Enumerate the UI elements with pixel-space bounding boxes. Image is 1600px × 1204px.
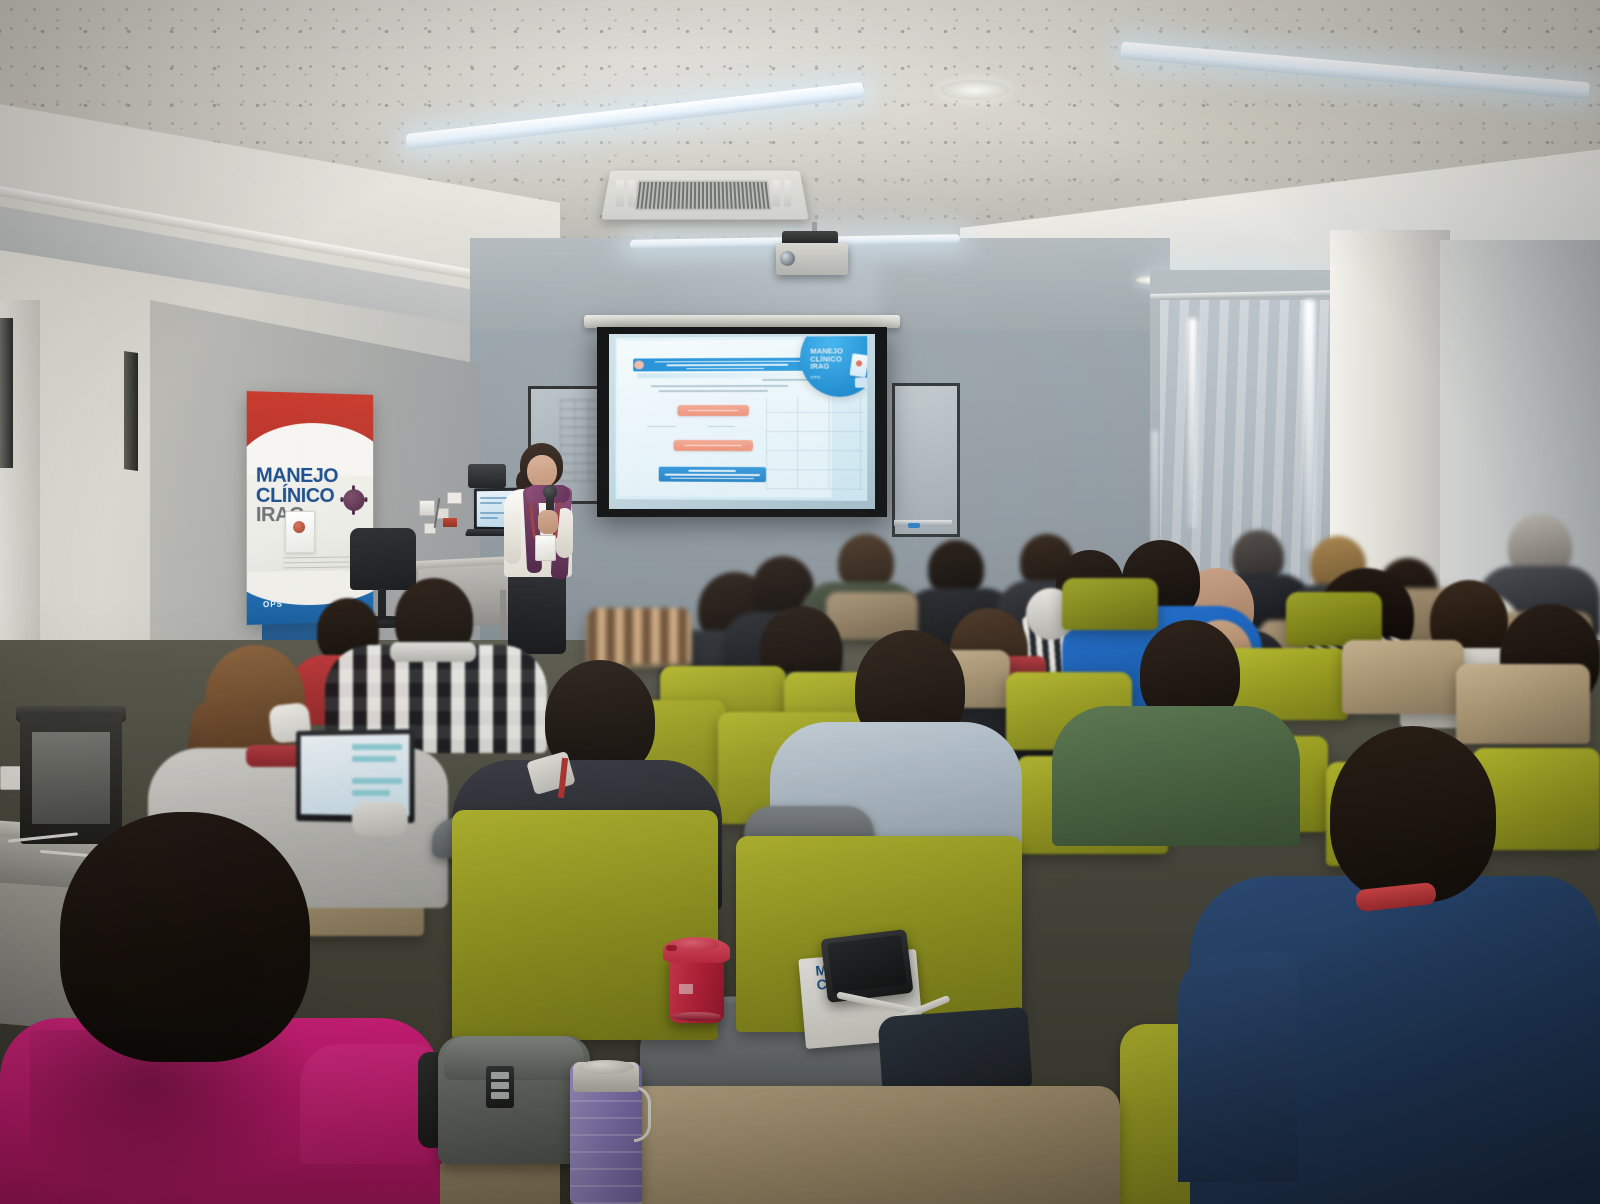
presenter-hand	[538, 510, 558, 534]
trash-bin-panel	[32, 732, 110, 824]
chair-green[interactable]	[1062, 578, 1158, 630]
slide-decision-box-label	[688, 410, 738, 412]
laptop-screen-content	[352, 744, 402, 750]
curtain-light-leak	[1188, 318, 1197, 528]
presenter-trousers	[508, 572, 566, 654]
emergency-button[interactable]	[443, 518, 457, 527]
water-bottle-collapsible-rings	[570, 1090, 642, 1204]
av-equipment	[468, 464, 506, 488]
slide-title-icon	[634, 360, 644, 369]
laptop-screen-content	[480, 502, 502, 504]
slide-reference-table	[766, 397, 863, 490]
whiteboard-marker-tray	[894, 520, 952, 526]
laptop-screen-content	[352, 756, 396, 762]
air-conditioner-grille	[634, 180, 772, 210]
audience-green-shirt	[1052, 706, 1300, 846]
laptop-screen-content	[352, 790, 390, 796]
chair-tan[interactable]	[1456, 664, 1590, 744]
coffee-cup-base	[672, 1012, 721, 1021]
water-bottle-strap	[634, 1086, 651, 1142]
presenter-desk-leg	[500, 590, 506, 638]
projector-lens-icon	[780, 251, 795, 266]
audience-hand	[352, 802, 408, 836]
slide-body-text-line	[659, 390, 768, 392]
whiteboard-right	[892, 383, 960, 537]
slide-subtitle-bar	[637, 373, 796, 379]
wall-frame	[0, 318, 13, 468]
microphone-head-icon	[543, 485, 557, 499]
laptop-screen-content	[480, 517, 498, 519]
slide-callout-line	[688, 470, 736, 472]
coffee-cup-logo	[679, 984, 693, 994]
combination-lock-icon[interactable]	[486, 1066, 514, 1108]
ac-louver	[628, 180, 635, 207]
conference-room-photo: MANEJO CLÍNICO IRAG OPS MANEJO CLÍNICO I…	[0, 0, 1600, 1204]
presenter-arm	[504, 508, 521, 564]
plaid-seat-cover	[588, 608, 690, 664]
whiteboard-magnet	[908, 523, 920, 528]
audience-head-foreground	[1330, 726, 1496, 902]
water-bottle-cap-top	[578, 1060, 634, 1074]
curtain-light-leak	[1304, 300, 1315, 550]
audience-head-foreground	[60, 812, 310, 1062]
hair-shading	[30, 1030, 330, 1204]
whiteboard-writing	[560, 398, 600, 482]
banner-card-virus-icon	[293, 521, 305, 533]
projected-slide: MANEJO CLÍNICO IRAG OPS	[616, 336, 868, 501]
banner-title-line1: MANEJO	[256, 466, 367, 486]
banner-virus-icon	[343, 489, 364, 511]
slide-badge-logo	[855, 378, 867, 388]
wall-frame	[124, 351, 138, 471]
audience-arm	[1178, 952, 1298, 1182]
ac-louver	[784, 180, 791, 207]
office-chair[interactable]	[350, 528, 416, 590]
coffee-cup-lid-top	[673, 938, 719, 951]
light-switch-plate[interactable]	[419, 500, 435, 516]
ac-louver	[772, 180, 780, 207]
laptop-screen-content	[352, 778, 402, 784]
smartphone-screen[interactable]	[827, 935, 907, 994]
laptop-screen-content	[480, 497, 508, 499]
coffee-cup-drink-tab[interactable]	[666, 945, 677, 951]
audience-collar	[390, 642, 476, 662]
chair-tan-foreground[interactable]	[600, 1086, 1120, 1204]
chair-green[interactable]	[1286, 592, 1382, 646]
ceiling-smoke-detector	[940, 80, 1010, 100]
ac-louver	[616, 180, 624, 207]
presenter-name-badge	[535, 535, 556, 561]
banner-org-abbr: OPS	[263, 599, 303, 609]
wall-data-port[interactable]	[447, 492, 462, 504]
chair-tan[interactable]	[1342, 640, 1464, 714]
folded-jacket	[877, 1007, 1032, 1097]
backpack-flap[interactable]	[444, 1036, 584, 1080]
